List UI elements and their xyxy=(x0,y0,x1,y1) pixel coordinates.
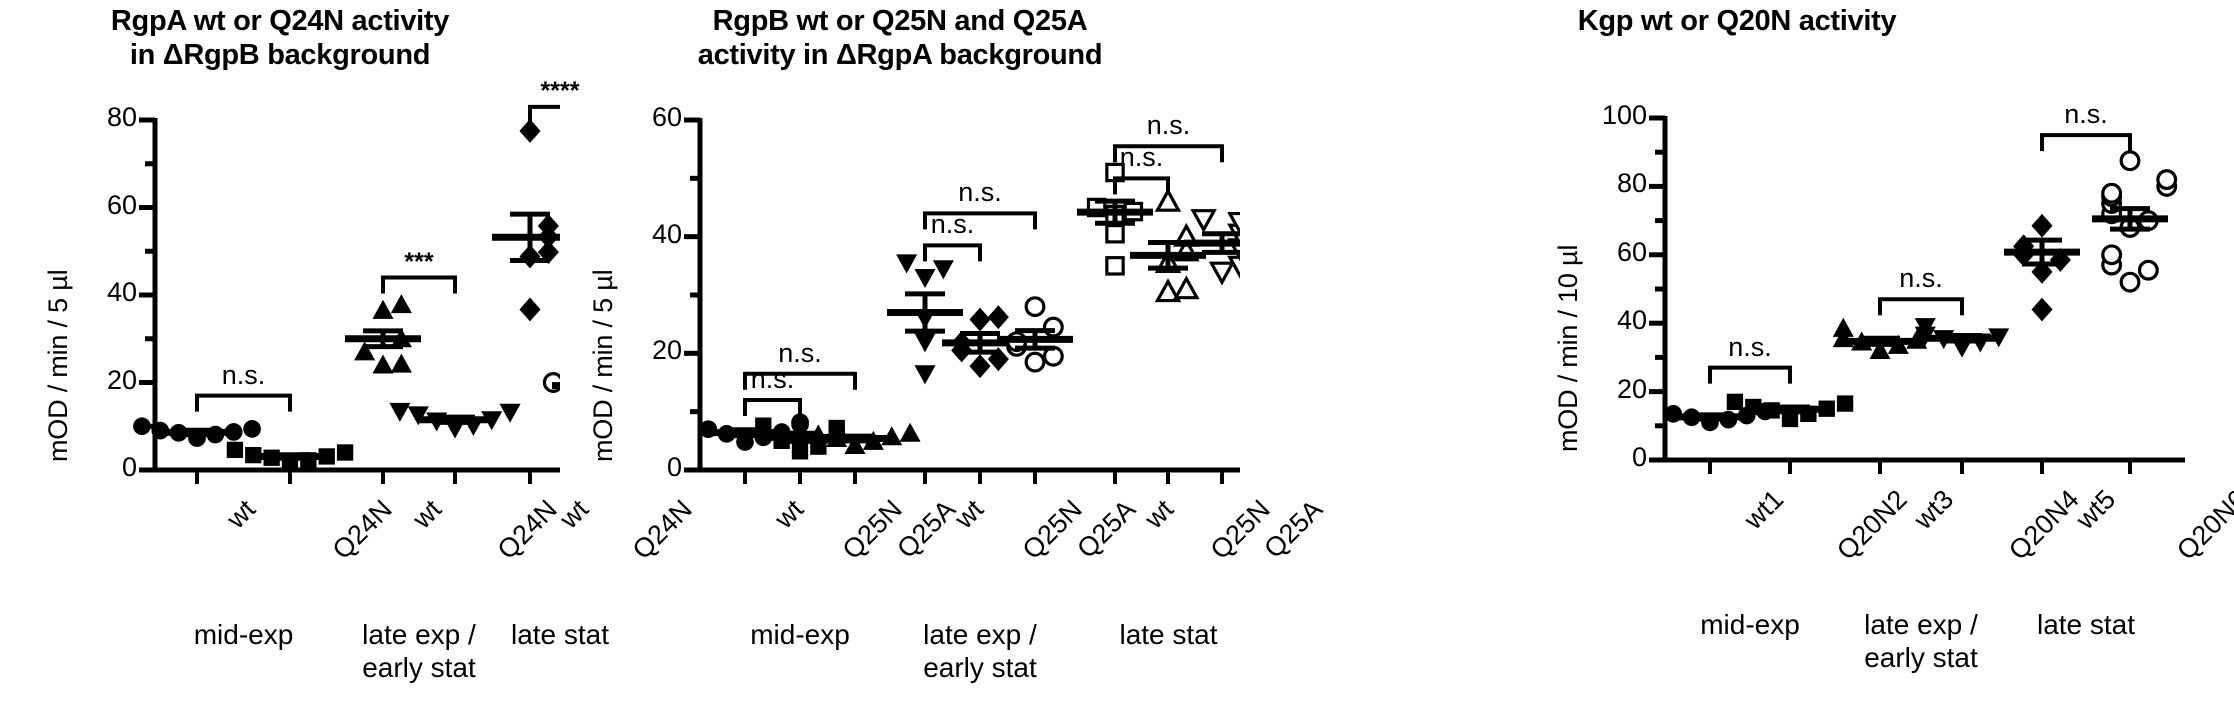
data-point xyxy=(1193,211,1214,230)
significance-label: n.s. xyxy=(890,177,1070,208)
y-tick-label: 80 xyxy=(1569,168,1647,199)
significance-label: n.s. xyxy=(1079,110,1259,141)
significance-label: n.s. xyxy=(863,209,1043,240)
data-point xyxy=(969,354,990,378)
data-point xyxy=(2103,184,2121,202)
significance-bracket xyxy=(530,107,560,123)
significance-label: *** xyxy=(329,248,509,277)
significance-bracket xyxy=(197,396,290,412)
y-tick-label: 80 xyxy=(59,102,137,133)
significance-label: n.s. xyxy=(1660,332,1840,363)
data-point xyxy=(500,404,521,423)
data-point xyxy=(755,418,771,434)
significance-bracket xyxy=(1710,368,1790,384)
data-point xyxy=(900,423,921,442)
significance-label: n.s. xyxy=(1996,99,2176,130)
significance-bracket xyxy=(383,278,455,294)
significance-bracket xyxy=(745,400,800,416)
data-point xyxy=(2140,261,2158,279)
significance-label: n.s. xyxy=(154,360,334,391)
data-point xyxy=(391,294,412,313)
y-axis-label: mOD / min / 5 µl xyxy=(588,270,619,462)
data-point xyxy=(372,354,393,373)
data-point xyxy=(2121,273,2139,291)
data-point xyxy=(896,254,917,273)
data-point xyxy=(1176,279,1197,298)
data-point xyxy=(243,420,261,438)
data-point xyxy=(337,444,353,460)
y-tick-label: 40 xyxy=(604,219,682,250)
data-point xyxy=(1026,298,1044,316)
chart-panel-kgp: Kgp wt or Q20N activity020406080100wt1Q2… xyxy=(1240,0,2234,727)
y-axis-label: mOD / min / 10 µl xyxy=(1553,245,1584,452)
data-point xyxy=(1837,395,1853,411)
data-point xyxy=(1727,394,1743,410)
data-point xyxy=(1107,226,1123,242)
data-point xyxy=(914,365,935,384)
significance-label: n.s. xyxy=(1831,263,2011,294)
data-point xyxy=(2031,298,2052,322)
data-point xyxy=(2103,246,2121,264)
data-point xyxy=(1211,263,1232,282)
data-point xyxy=(372,300,393,319)
data-point xyxy=(2121,152,2139,170)
significance-bracket xyxy=(2042,135,2130,151)
significance-bracket xyxy=(1880,299,1962,315)
data-point xyxy=(1045,318,1063,336)
data-point xyxy=(389,403,410,422)
data-point xyxy=(1107,258,1123,274)
data-point xyxy=(2031,214,2052,238)
data-point xyxy=(133,417,151,435)
group-label: late stat xyxy=(1956,608,2216,641)
data-point xyxy=(2158,171,2176,189)
data-point xyxy=(519,298,540,322)
figure-root: RgpA wt or Q24N activity in ΔRgpB backgr… xyxy=(0,0,2234,727)
y-tick-label: 100 xyxy=(1569,100,1647,131)
y-tick-label: 60 xyxy=(604,102,682,133)
significance-bracket xyxy=(925,245,980,261)
data-point xyxy=(933,260,954,279)
chart-panel-rgpa: RgpA wt or Q24N activity in ΔRgpB backgr… xyxy=(0,0,560,727)
significance-label: n.s. xyxy=(710,338,890,369)
data-point xyxy=(988,305,1009,329)
data-point xyxy=(227,442,243,458)
significance-label: n.s. xyxy=(1052,142,1232,173)
data-point xyxy=(1026,353,1044,371)
data-point xyxy=(914,269,935,288)
y-tick-label: 60 xyxy=(59,190,137,221)
data-point xyxy=(792,443,808,459)
data-point xyxy=(391,354,412,373)
data-point xyxy=(969,308,990,332)
y-axis-label: mOD / min / 5 µl xyxy=(43,270,74,462)
data-point xyxy=(914,333,935,352)
chart-panel-rgpb: RgpB wt or Q25N and Q25A activity in ΔRg… xyxy=(560,0,1240,727)
